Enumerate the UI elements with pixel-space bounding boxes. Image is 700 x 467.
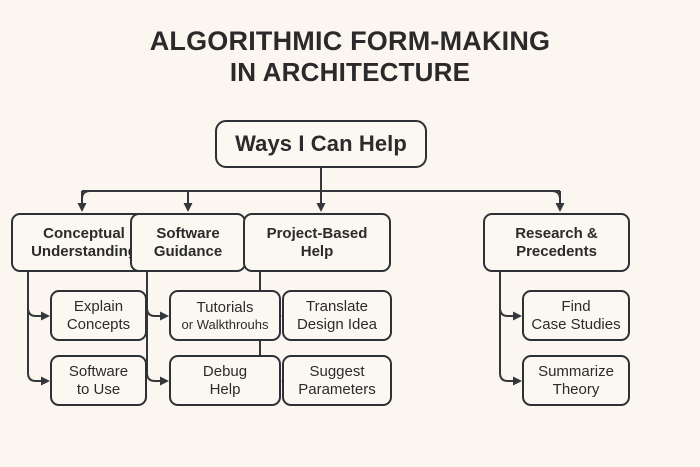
node-label-line-2: Concepts	[67, 316, 130, 334]
subbranch-4-2	[500, 272, 514, 381]
node-label-line-2: Case Studies	[531, 316, 620, 334]
node-label-line-1: Debug	[203, 363, 247, 381]
subbranch-arrowhead-4-2	[513, 377, 522, 386]
node-ways-i-can-help[interactable]: Ways I Can Help	[215, 120, 427, 168]
node-label-line-2: Design Idea	[297, 316, 377, 334]
node-translate-design-idea[interactable]: Translate Design Idea	[282, 290, 392, 341]
node-label-line-2: Theory	[553, 381, 600, 399]
node-label-line-1: Research &	[515, 225, 598, 243]
subbranch-2-2	[147, 272, 161, 381]
node-software-to-use[interactable]: Software to Use	[50, 355, 147, 406]
node-label-line-1: Explain	[74, 298, 123, 316]
subbranch-1-2	[28, 272, 42, 381]
node-suggest-parameters[interactable]: Suggest Parameters	[282, 355, 392, 406]
node-summarize-theory[interactable]: Summarize Theory	[522, 355, 630, 406]
node-label-line-1: Software	[69, 363, 128, 381]
page-title-line-1: ALGORITHMIC FORM-MAKING	[0, 26, 700, 57]
subbranch-4-1	[500, 272, 514, 316]
node-label-line-2: Help	[301, 243, 334, 261]
node-label-line-1: Software	[156, 225, 219, 243]
branch-arrowhead-1	[78, 203, 87, 212]
node-tutorials-or-walkthrouhs[interactable]: Tutorials or Walkthrouhs	[169, 290, 281, 341]
node-label-line-1: Suggest	[309, 363, 364, 381]
node-label-line-1: Project-Based	[267, 225, 368, 243]
subbranch-arrowhead-1-2	[41, 377, 50, 386]
node-explain-concepts[interactable]: Explain Concepts	[50, 290, 147, 341]
node-label: Ways I Can Help	[235, 131, 407, 157]
node-project-based-help[interactable]: Project-Based Help	[243, 213, 391, 272]
diagram-canvas: ALGORITHMIC FORM-MAKING IN ARCHITECTURE	[0, 0, 700, 467]
branch-arrowhead-4	[556, 203, 565, 212]
subbranch-arrowhead-2-2	[160, 377, 169, 386]
page-title-line-2: IN ARCHITECTURE	[0, 57, 700, 87]
node-label-line-1: Tutorials	[197, 299, 254, 317]
node-label-line-1: Conceptual	[43, 225, 125, 243]
subbranch-1-1	[28, 272, 42, 316]
node-research-precedents[interactable]: Research & Precedents	[483, 213, 630, 272]
branch-arrowhead-2	[184, 203, 193, 212]
node-debug-help[interactable]: Debug Help	[169, 355, 281, 406]
page-title: ALGORITHMIC FORM-MAKING IN ARCHITECTURE	[0, 26, 700, 87]
node-label-line-2: Understanding	[31, 243, 137, 261]
subbranch-arrowhead-1-1	[41, 312, 50, 321]
node-label-line-2: Help	[210, 381, 241, 399]
node-label-line-1: Find	[561, 298, 590, 316]
branch-arrowhead-3	[317, 203, 326, 212]
node-label-line-2: to Use	[77, 381, 120, 399]
subbranch-arrowhead-2-1	[160, 312, 169, 321]
node-label-line-1: Summarize	[538, 363, 614, 381]
node-label-line-2: or Walkthrouhs	[182, 317, 269, 333]
node-label-line-1: Translate	[306, 298, 368, 316]
node-label-line-2: Precedents	[516, 243, 597, 261]
node-find-case-studies[interactable]: Find Case Studies	[522, 290, 630, 341]
subbranch-arrowhead-4-1	[513, 312, 522, 321]
node-label-line-2: Parameters	[298, 381, 376, 399]
subbranch-2-1	[147, 272, 161, 316]
node-label-line-2: Guidance	[154, 243, 222, 261]
node-software-guidance[interactable]: Software Guidance	[130, 213, 246, 272]
distribution-bus	[82, 191, 560, 210]
